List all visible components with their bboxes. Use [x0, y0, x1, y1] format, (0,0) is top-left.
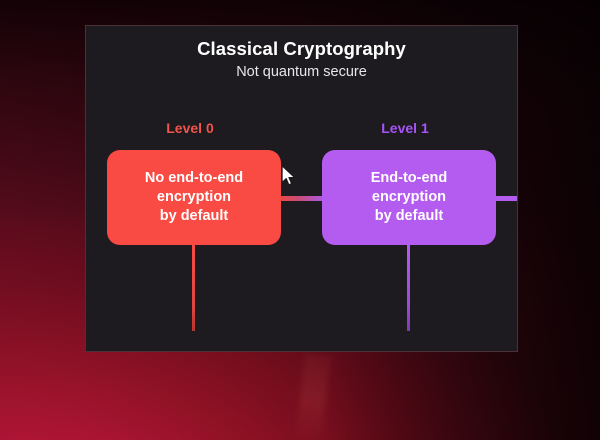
presentation-panel[interactable]: Classical Cryptography Not quantum secur…	[85, 25, 518, 352]
node-level-1[interactable]: End-to-end encryption by default	[322, 150, 496, 245]
connector-level1-to-right-edge	[495, 196, 518, 201]
level-1-label: Level 1	[315, 120, 495, 136]
node-level-0-text: No end-to-end encryption by default	[145, 169, 243, 226]
slide-subtitle: Not quantum secure	[86, 64, 517, 80]
slide-title: Classical Cryptography	[86, 38, 517, 60]
connector-level0-to-level1	[279, 196, 324, 201]
level-0-label: Level 0	[100, 120, 280, 136]
connector-level0-downward	[192, 245, 195, 331]
node-level-0[interactable]: No end-to-end encryption by default	[107, 150, 281, 245]
node-level-1-text: End-to-end encryption by default	[371, 169, 448, 226]
connector-level1-downward	[407, 245, 410, 331]
